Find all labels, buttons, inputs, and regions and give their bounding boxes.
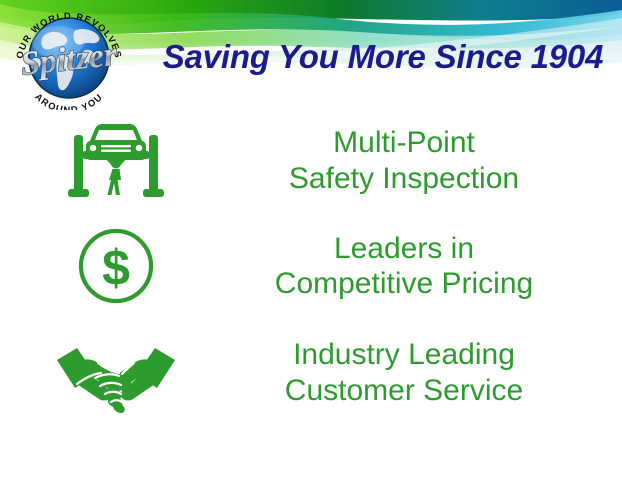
feature-line-2: Safety Inspection xyxy=(232,161,576,196)
feature-label: Multi-Point Safety Inspection xyxy=(232,125,622,196)
feature-row: Industry Leading Customer Service xyxy=(0,320,622,425)
feature-line-1: Industry Leading xyxy=(232,337,576,372)
dollar-circle-icon: $ xyxy=(0,225,232,307)
spitzer-logo[interactable]: OUR WORLD REVOLVES AROUND YOU Spitzer xyxy=(6,2,132,110)
feature-line-1: Multi-Point xyxy=(232,125,576,160)
handshake-icon xyxy=(0,332,232,414)
feature-label: Leaders in Competitive Pricing xyxy=(232,231,622,302)
page-title: Saving You More Since 1904 xyxy=(150,38,616,76)
feature-line-2: Customer Service xyxy=(232,373,576,408)
feature-line-1: Leaders in xyxy=(232,231,576,266)
feature-line-2: Competitive Pricing xyxy=(232,266,576,301)
feature-list: Multi-Point Safety Inspection $ Leaders … xyxy=(0,108,622,428)
feature-label: Industry Leading Customer Service xyxy=(232,337,622,408)
svg-text:$: $ xyxy=(102,240,130,296)
feature-row: $ Leaders in Competitive Pricing xyxy=(0,216,622,316)
car-lift-inspection-icon xyxy=(0,117,232,205)
promotional-slide: OUR WORLD REVOLVES AROUND YOU Spitzer Sa… xyxy=(0,0,622,483)
feature-row: Multi-Point Safety Inspection xyxy=(0,108,622,213)
